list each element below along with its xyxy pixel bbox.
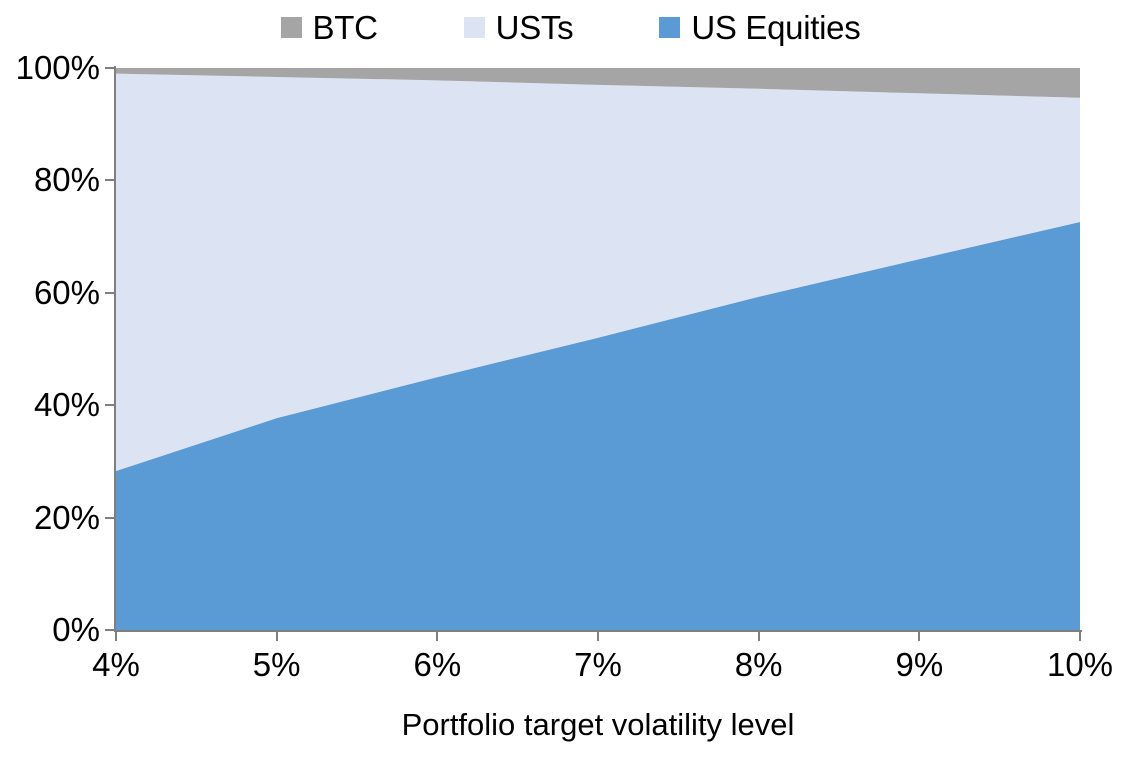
area-series-svg — [116, 68, 1080, 630]
legend-swatch-us-equities — [659, 17, 680, 38]
y-tick-label-100: 100% — [0, 51, 100, 84]
x-tick-label-8%: 8% — [689, 648, 829, 681]
y-tick-0 — [105, 629, 115, 631]
x-tick-9% — [918, 631, 920, 641]
x-axis-title: Portfolio target volatility level — [116, 708, 1080, 742]
x-tick-10% — [1079, 631, 1081, 641]
y-tick-40 — [105, 404, 115, 406]
legend-swatch-btc — [281, 17, 302, 38]
x-tick-7% — [597, 631, 599, 641]
legend-label-us-equities: US Equities — [691, 11, 860, 44]
x-tick-label-10%: 10% — [1010, 648, 1141, 681]
y-tick-100 — [105, 67, 115, 69]
x-tick-label-5%: 5% — [207, 648, 347, 681]
x-tick-label-9%: 9% — [849, 648, 989, 681]
legend-label-btc: BTC — [313, 11, 378, 44]
x-tick-8% — [758, 631, 760, 641]
legend-item-usts: USTs — [464, 11, 574, 44]
stacked-area-chart: BTC USTs US Equities 0%20%40%60%80%100% … — [0, 0, 1141, 763]
y-axis-line — [114, 66, 116, 632]
legend-item-us-equities: US Equities — [659, 11, 860, 44]
plot-area — [116, 68, 1080, 630]
x-tick-4% — [115, 631, 117, 641]
y-tick-label-40: 40% — [0, 388, 100, 421]
chart-legend: BTC USTs US Equities — [0, 4, 1141, 50]
y-tick-80 — [105, 179, 115, 181]
x-tick-label-4%: 4% — [46, 648, 186, 681]
y-tick-label-20: 20% — [0, 501, 100, 534]
y-tick-60 — [105, 292, 115, 294]
legend-item-btc: BTC — [281, 11, 378, 44]
y-tick-label-80: 80% — [0, 163, 100, 196]
x-tick-6% — [436, 631, 438, 641]
x-tick-label-6%: 6% — [367, 648, 507, 681]
y-tick-label-60: 60% — [0, 276, 100, 309]
y-tick-20 — [105, 517, 115, 519]
x-tick-5% — [276, 631, 278, 641]
y-tick-label-0: 0% — [0, 613, 100, 646]
legend-swatch-usts — [464, 17, 485, 38]
legend-label-usts: USTs — [496, 11, 574, 44]
x-tick-label-7%: 7% — [528, 648, 668, 681]
